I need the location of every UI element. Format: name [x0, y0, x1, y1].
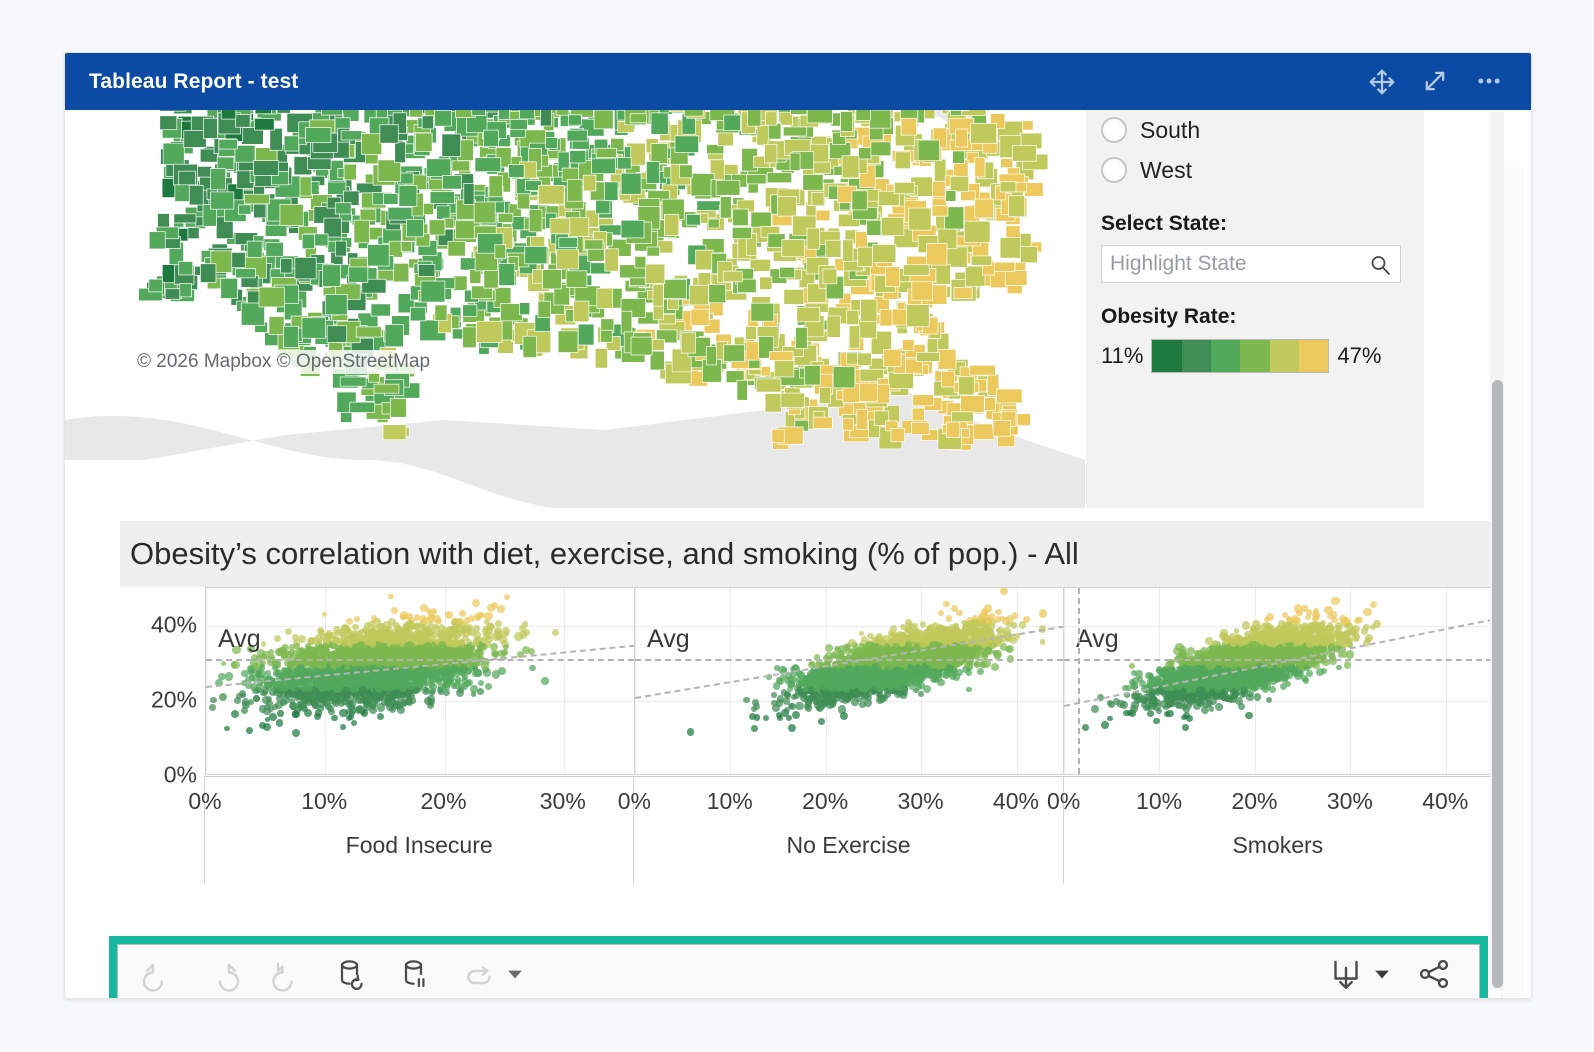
map-county[interactable] — [912, 423, 930, 435]
scatter-point[interactable] — [485, 683, 493, 691]
map-county[interactable] — [813, 417, 832, 428]
map-county[interactable] — [807, 228, 819, 249]
map-county[interactable] — [947, 422, 960, 438]
map-county[interactable] — [558, 331, 578, 353]
map-county[interactable] — [651, 144, 668, 164]
map-county[interactable] — [803, 175, 823, 191]
map-county[interactable] — [378, 160, 401, 182]
map-county[interactable] — [1000, 238, 1021, 259]
map-county[interactable] — [180, 283, 192, 296]
map-county[interactable] — [870, 110, 891, 128]
map-county[interactable] — [885, 267, 899, 287]
map-county[interactable] — [277, 110, 290, 113]
map-county[interactable] — [706, 346, 716, 365]
map-county[interactable] — [857, 409, 868, 429]
map-county[interactable] — [435, 110, 452, 126]
map-county[interactable] — [842, 156, 859, 178]
map-county[interactable] — [567, 130, 587, 141]
map-county[interactable] — [383, 194, 398, 205]
map-county[interactable] — [546, 138, 558, 149]
map-county[interactable] — [942, 371, 955, 387]
scatter-point[interactable] — [346, 618, 353, 625]
scatter-point[interactable] — [276, 719, 283, 726]
map-county[interactable] — [159, 110, 185, 111]
map-county[interactable] — [881, 217, 904, 235]
map-county[interactable] — [162, 265, 175, 283]
map-county[interactable] — [733, 209, 749, 226]
scatter-point[interactable] — [514, 632, 522, 640]
map-county[interactable] — [645, 264, 665, 283]
map-county[interactable] — [993, 420, 1011, 436]
map-county[interactable] — [664, 214, 678, 235]
map-county[interactable] — [325, 294, 347, 314]
map-county[interactable] — [819, 387, 830, 403]
map-county[interactable] — [796, 327, 808, 348]
map-county[interactable] — [596, 148, 617, 157]
map-county[interactable] — [826, 240, 841, 257]
scatter-point[interactable] — [263, 723, 271, 731]
map-county[interactable] — [495, 245, 506, 259]
scatter-point[interactable] — [298, 635, 306, 643]
map-county[interactable] — [646, 162, 659, 184]
map-county[interactable] — [410, 110, 423, 117]
map-county[interactable] — [748, 110, 761, 126]
scatter-point[interactable] — [225, 672, 233, 680]
map-county[interactable] — [970, 365, 996, 375]
map-county[interactable] — [932, 206, 948, 216]
map-county[interactable] — [861, 299, 877, 321]
scatter-point[interactable] — [474, 613, 481, 620]
map-county[interactable] — [975, 158, 985, 177]
scatter-point[interactable] — [351, 720, 357, 726]
map-county[interactable] — [901, 118, 917, 135]
expand-icon[interactable] — [1421, 67, 1451, 97]
scatter-point[interactable] — [377, 713, 385, 721]
scatter-point[interactable] — [441, 650, 449, 658]
map-county[interactable] — [791, 110, 807, 114]
map-county[interactable] — [540, 110, 551, 126]
search-input[interactable] — [1102, 246, 1360, 282]
scatter-point[interactable] — [456, 689, 464, 697]
more-options-icon[interactable] — [1475, 67, 1505, 97]
scatter-point[interactable] — [348, 714, 354, 720]
map-county[interactable] — [764, 145, 777, 163]
map-county[interactable] — [362, 133, 382, 154]
scatter-point[interactable] — [250, 683, 258, 691]
map-county[interactable] — [883, 349, 901, 366]
scatter-point[interactable] — [340, 724, 346, 730]
map-county[interactable] — [247, 241, 262, 257]
scatter-point[interactable] — [541, 677, 549, 685]
map-county[interactable] — [732, 227, 751, 238]
map-county[interactable] — [348, 267, 367, 282]
map-county[interactable] — [435, 305, 447, 321]
map-county[interactable] — [605, 249, 619, 271]
map-county[interactable] — [857, 353, 871, 366]
map-county[interactable] — [856, 110, 871, 120]
map-county[interactable] — [475, 251, 498, 271]
map-county[interactable] — [841, 111, 853, 131]
map-county[interactable] — [708, 219, 719, 228]
map-county[interactable] — [849, 326, 860, 348]
scatter-point[interactable] — [406, 698, 414, 706]
scatter-point[interactable] — [265, 681, 271, 687]
map-county[interactable] — [858, 247, 873, 266]
map-county[interactable] — [484, 130, 499, 146]
map-county[interactable] — [322, 265, 340, 287]
map-county[interactable] — [356, 327, 381, 337]
map-county[interactable] — [567, 179, 582, 201]
scatter-point[interactable] — [319, 686, 325, 692]
map-county[interactable] — [415, 133, 432, 151]
map-county[interactable] — [437, 206, 451, 219]
map-county[interactable] — [281, 259, 292, 273]
map-county[interactable] — [681, 333, 695, 353]
move-icon[interactable] — [1367, 67, 1397, 97]
map-county[interactable] — [790, 153, 800, 171]
map-county[interactable] — [217, 157, 234, 169]
map-county[interactable] — [280, 204, 303, 225]
scatter-point[interactable] — [261, 641, 267, 647]
map-county[interactable] — [305, 128, 331, 143]
map-county[interactable] — [855, 232, 867, 249]
map-county[interactable] — [525, 246, 547, 263]
map-county[interactable] — [823, 269, 837, 284]
map-county[interactable] — [388, 207, 414, 220]
scatter-point[interactable] — [552, 629, 559, 636]
scatter-point[interactable] — [289, 702, 297, 710]
map-county[interactable] — [843, 418, 854, 430]
map-county[interactable] — [852, 191, 867, 210]
map-county[interactable] — [847, 310, 859, 324]
scatter-point[interactable] — [408, 620, 414, 626]
map-county[interactable] — [255, 118, 275, 130]
map-county[interactable] — [385, 324, 403, 346]
map-county[interactable] — [756, 379, 781, 392]
map-county[interactable] — [219, 139, 237, 149]
map-county[interactable] — [964, 221, 990, 243]
map-county[interactable] — [974, 424, 995, 440]
scatter-point[interactable] — [492, 670, 500, 678]
map-county[interactable] — [679, 165, 692, 178]
map-county[interactable] — [509, 165, 525, 178]
map-county[interactable] — [255, 110, 271, 114]
map-county[interactable] — [737, 380, 747, 400]
map-county[interactable] — [782, 240, 805, 257]
scatter-point[interactable] — [427, 622, 434, 629]
map-county[interactable] — [751, 303, 774, 321]
scatter-point[interactable] — [415, 622, 422, 629]
map-county[interactable] — [909, 208, 931, 230]
map-county[interactable] — [768, 123, 781, 139]
map-county[interactable] — [499, 263, 515, 285]
map-county[interactable] — [860, 383, 877, 401]
map-county[interactable] — [453, 276, 467, 291]
map-county[interactable] — [221, 110, 236, 119]
map-county[interactable] — [691, 309, 709, 325]
scatter-point[interactable] — [285, 628, 292, 635]
map-county[interactable] — [380, 125, 398, 143]
map-county[interactable] — [812, 192, 824, 205]
map-county[interactable] — [210, 192, 233, 209]
map-county[interactable] — [880, 309, 893, 326]
map-county[interactable] — [950, 176, 968, 191]
map-county[interactable] — [585, 240, 603, 249]
scatter-point[interactable] — [453, 666, 461, 674]
scatter-point[interactable] — [475, 648, 481, 654]
map-county[interactable] — [165, 289, 180, 300]
map-county[interactable] — [410, 307, 425, 321]
map-county[interactable] — [254, 204, 266, 218]
map-county[interactable] — [953, 151, 965, 163]
map-county[interactable] — [765, 394, 781, 412]
map-county[interactable] — [647, 247, 659, 256]
scatter-point[interactable] — [414, 614, 421, 621]
map-county[interactable] — [652, 340, 665, 351]
scatter-point[interactable] — [275, 701, 283, 709]
map-county[interactable] — [335, 203, 351, 214]
map-county[interactable] — [235, 145, 255, 162]
map-county[interactable] — [568, 115, 581, 125]
scatter-point[interactable] — [219, 693, 227, 701]
map-county[interactable] — [442, 175, 461, 189]
map-county[interactable] — [871, 142, 891, 156]
map-county[interactable] — [783, 127, 806, 136]
scatter-point[interactable] — [314, 713, 321, 720]
scatter-point[interactable] — [262, 651, 270, 659]
scatter-point[interactable] — [391, 676, 397, 682]
map-county[interactable] — [254, 161, 279, 176]
map-county[interactable] — [550, 218, 570, 234]
map-county[interactable] — [913, 395, 934, 406]
map-county[interactable] — [284, 136, 299, 151]
map-county[interactable] — [341, 131, 362, 140]
panel-row[interactable]: AvgAvgAvg — [205, 587, 1493, 775]
scatter-point[interactable] — [304, 709, 312, 717]
map-county[interactable] — [746, 175, 766, 184]
map-county[interactable] — [302, 318, 326, 339]
map-county[interactable] — [724, 115, 741, 131]
scatter-point[interactable] — [529, 665, 536, 672]
map-county[interactable] — [630, 114, 646, 123]
map-county[interactable] — [160, 116, 177, 130]
map-county[interactable] — [189, 185, 203, 205]
map-county[interactable] — [429, 220, 445, 235]
map-county[interactable] — [244, 194, 269, 204]
map-county[interactable] — [938, 349, 956, 369]
scatter-point[interactable] — [385, 629, 391, 635]
map-county[interactable] — [696, 250, 714, 270]
scatter-panel-food-insecure[interactable]: Avg — [206, 588, 635, 774]
map-county[interactable] — [163, 143, 184, 165]
map-county[interactable] — [1009, 196, 1025, 217]
map-county[interactable] — [997, 389, 1022, 403]
map-county[interactable] — [179, 261, 193, 274]
scatter-point[interactable] — [522, 621, 528, 627]
map-county[interactable] — [149, 279, 163, 292]
map-county[interactable] — [543, 270, 562, 289]
map-county[interactable] — [354, 220, 369, 243]
scatter-point[interactable] — [241, 707, 248, 714]
map-county[interactable] — [1005, 270, 1027, 285]
map-county[interactable] — [709, 284, 726, 302]
scatter-point[interactable] — [209, 704, 216, 711]
map-county[interactable] — [426, 159, 450, 177]
map-county[interactable] — [557, 250, 579, 269]
map-county[interactable] — [499, 110, 510, 119]
map-county[interactable] — [538, 185, 564, 204]
map-county[interactable] — [760, 277, 772, 290]
map-county[interactable] — [894, 182, 914, 193]
scatter-point[interactable] — [285, 690, 292, 697]
map-county[interactable] — [566, 271, 587, 288]
map-county[interactable] — [724, 345, 745, 362]
map-county[interactable] — [962, 110, 986, 116]
map-county[interactable] — [519, 110, 534, 119]
map-county[interactable] — [867, 220, 881, 235]
map-county[interactable] — [686, 214, 700, 225]
map-county[interactable] — [266, 242, 283, 256]
scatter-point[interactable] — [310, 637, 317, 644]
map-county[interactable] — [651, 113, 668, 135]
map-county[interactable] — [779, 267, 794, 278]
map-county[interactable] — [340, 377, 366, 386]
region-radio-west[interactable]: West — [1101, 150, 1424, 190]
map-county[interactable] — [772, 430, 784, 443]
map-county[interactable] — [605, 182, 618, 201]
map-county[interactable] — [519, 303, 529, 315]
map-county[interactable] — [751, 212, 771, 227]
map-county[interactable] — [184, 131, 206, 148]
map-county[interactable] — [570, 150, 586, 163]
map-county[interactable] — [529, 209, 542, 231]
scatter-point[interactable] — [221, 661, 227, 667]
scatter-point[interactable] — [210, 697, 216, 703]
map-county[interactable] — [200, 264, 216, 283]
map-county[interactable] — [395, 142, 406, 163]
map-county[interactable] — [912, 408, 924, 421]
scatter-point[interactable] — [472, 599, 480, 607]
map-county[interactable] — [994, 262, 1015, 271]
map-county[interactable] — [951, 412, 973, 422]
map-county[interactable] — [765, 112, 777, 125]
map-county[interactable] — [926, 244, 947, 266]
map-county[interactable] — [917, 352, 940, 361]
map-county[interactable] — [912, 282, 933, 300]
map-county[interactable] — [464, 183, 474, 204]
map-county[interactable] — [390, 398, 406, 417]
map-county[interactable] — [389, 241, 403, 257]
scatter-point[interactable] — [493, 651, 499, 657]
scatter-point[interactable] — [240, 693, 246, 699]
map-county[interactable] — [568, 218, 589, 237]
map-county[interactable] — [510, 119, 527, 129]
map-county[interactable] — [675, 136, 699, 153]
map-county[interactable] — [781, 393, 805, 407]
map-county[interactable] — [985, 398, 996, 411]
scatter-point[interactable] — [473, 625, 480, 632]
scatter-point[interactable] — [292, 710, 299, 717]
map-county[interactable] — [322, 110, 343, 115]
scatter-point[interactable] — [224, 726, 230, 732]
map-county[interactable] — [401, 242, 412, 252]
map-county[interactable] — [927, 339, 938, 354]
map-county[interactable] — [203, 118, 217, 138]
map-county[interactable] — [489, 176, 502, 197]
scatter-point[interactable] — [292, 729, 300, 737]
map-county[interactable] — [797, 307, 820, 322]
scatter-point[interactable] — [265, 717, 271, 723]
map-county[interactable] — [621, 311, 632, 334]
map-county[interactable] — [430, 192, 454, 204]
map-county[interactable] — [149, 232, 165, 249]
map-county[interactable] — [472, 110, 486, 116]
scatter-point[interactable] — [400, 614, 407, 621]
map-county[interactable] — [592, 159, 616, 174]
map-county[interactable] — [399, 185, 417, 206]
scatter-point[interactable] — [231, 661, 239, 669]
map-county[interactable] — [934, 159, 946, 181]
map-county[interactable] — [475, 158, 501, 172]
scatter-point[interactable] — [231, 710, 239, 718]
scatter-point[interactable] — [309, 649, 317, 657]
map-county[interactable] — [689, 285, 708, 305]
scatter-point[interactable] — [275, 648, 283, 656]
map-county[interactable] — [961, 396, 985, 413]
map-county[interactable] — [1021, 246, 1038, 262]
map-county[interactable] — [746, 342, 760, 360]
map-county[interactable] — [684, 110, 703, 116]
scatter-point[interactable] — [397, 706, 405, 714]
map-county[interactable] — [975, 199, 994, 218]
map-county[interactable] — [1006, 226, 1020, 239]
map-county[interactable] — [597, 288, 613, 308]
scatter-point[interactable] — [495, 620, 502, 627]
map-county[interactable] — [211, 169, 226, 190]
map-county[interactable] — [888, 372, 913, 389]
map-county[interactable] — [932, 181, 945, 196]
map-county[interactable] — [723, 271, 742, 282]
map-county[interactable] — [1012, 145, 1036, 161]
map-county[interactable] — [745, 326, 756, 339]
map-county[interactable] — [442, 134, 461, 157]
scatter-point[interactable] — [331, 715, 337, 721]
scatter-point[interactable] — [427, 633, 433, 639]
map-county[interactable] — [814, 162, 831, 173]
map-county[interactable] — [476, 321, 502, 342]
map-county[interactable] — [859, 148, 872, 159]
scatter-point[interactable] — [377, 623, 383, 629]
map-county[interactable] — [484, 270, 498, 288]
map-county[interactable] — [873, 244, 896, 262]
map-county[interactable] — [236, 114, 251, 127]
scatter-point[interactable] — [352, 624, 359, 631]
map-county[interactable] — [1001, 159, 1013, 168]
scatter-point[interactable] — [339, 709, 347, 717]
map-county[interactable] — [621, 220, 644, 238]
map-county[interactable] — [383, 425, 406, 440]
map-county[interactable] — [895, 152, 910, 169]
scatter-point[interactable] — [483, 668, 491, 676]
map-county[interactable] — [653, 284, 663, 306]
search-icon[interactable] — [1368, 253, 1392, 277]
map-county[interactable] — [954, 288, 972, 299]
map-county[interactable] — [697, 201, 720, 211]
scatter-point[interactable] — [481, 662, 489, 670]
scatter-point[interactable] — [451, 626, 458, 633]
scatter-point[interactable] — [504, 594, 510, 600]
map-county[interactable] — [470, 270, 481, 284]
